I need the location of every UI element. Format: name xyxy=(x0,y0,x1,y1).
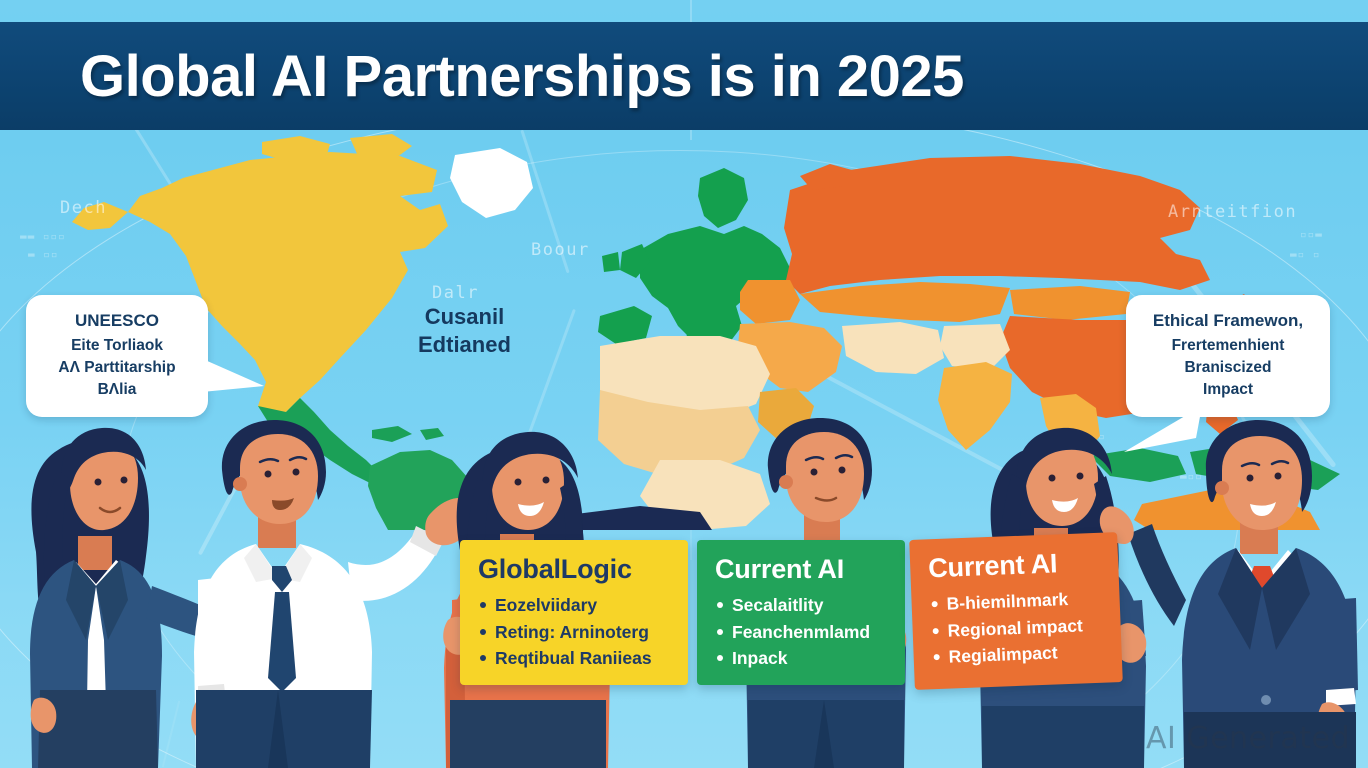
title-banner: Global AI Partnerships is in 2025 xyxy=(0,22,1368,130)
page-title: Global AI Partnerships is in 2025 xyxy=(80,43,964,110)
map-region-tibet xyxy=(940,324,1010,370)
ocean-label-line-2: Edtianed xyxy=(418,331,511,359)
ai-generated-watermark: AI Generated xyxy=(1146,721,1350,756)
placard-green-bullet-2: Feanchenmlamd xyxy=(715,619,889,646)
ocean-label-line-1: Cusanil xyxy=(418,303,511,331)
map-region-madagascar xyxy=(800,478,826,522)
placard-green-title: Current AI xyxy=(715,554,889,585)
map-bg-word: Dalr xyxy=(432,283,479,303)
placard-yellow-title: GlobalLogic xyxy=(478,554,672,585)
placard-green-bullet-3: Inpack xyxy=(715,645,889,672)
placard-current-ai-green[interactable]: Current AI Secalaitlity Feanchenmlamd In… xyxy=(697,540,905,685)
map-region-scandinavia xyxy=(698,168,748,228)
placard-current-ai-orange[interactable]: Current AI B-hiemilnmark Regional impact… xyxy=(909,532,1123,690)
map-region-caribbean xyxy=(372,426,412,442)
map-region-iran xyxy=(842,322,944,374)
map-region-new-guinea xyxy=(1258,460,1340,490)
map-bg-word: Arnteitfion xyxy=(1168,202,1297,222)
speech-bubble-right: Ethical Framewon, Frertemenhient Branisc… xyxy=(1126,295,1330,417)
placard-globallogic[interactable]: GlobalLogic Eozelviidary Reting: Arninot… xyxy=(460,540,688,685)
placard-yellow-bullet-2: Reting: Arninoterg xyxy=(478,619,672,646)
map-region-caribbean xyxy=(420,428,444,440)
map-region-iberia xyxy=(598,306,652,344)
map-region-australia xyxy=(1134,490,1320,530)
bubble-right-line-2: Braniscized xyxy=(1184,359,1271,376)
map-region-south-america xyxy=(368,450,476,530)
bubble-right-heading: Ethical Framewon, xyxy=(1142,309,1314,333)
map-region-central-asia xyxy=(800,282,1010,322)
bubble-right-line-3: Impact xyxy=(1203,381,1253,398)
placard-green-bullets: Secalaitlity Feanchenmlamd Inpack xyxy=(715,592,889,672)
map-region-africa-horn xyxy=(758,388,814,440)
map-region-greenland xyxy=(450,148,533,218)
bubble-left-line-1: Eite Torliaok xyxy=(71,337,163,354)
speech-bubble-left-tail xyxy=(196,352,266,418)
map-region-eastern-europe xyxy=(740,280,800,324)
bubble-right-line-1: Frertemenhient xyxy=(1172,337,1285,354)
map-region-ireland xyxy=(602,252,620,272)
placard-green-bullet-1: Secalaitlity xyxy=(715,592,889,619)
map-region-arctic-islands xyxy=(350,134,412,158)
placard-yellow-bullet-3: Reqtibual Raniieas xyxy=(478,645,672,672)
map-bg-word: Dech xyxy=(60,198,107,218)
map-region-india xyxy=(938,362,1012,450)
placard-orange-bullet-3: Regialimpact xyxy=(931,638,1106,671)
placard-orange-title: Current AI xyxy=(928,547,1103,585)
speech-bubble-left: UNEESCO Eite Torliaok AΛ Parttitarship B… xyxy=(26,295,208,417)
ocean-label: Cusanil Edtianed xyxy=(418,303,511,358)
bubble-left-heading: UNEESCO xyxy=(42,309,192,333)
placard-orange-bullets: B-hiemilnmark Regional impact Regialimpa… xyxy=(929,585,1106,671)
map-bg-word: Boour xyxy=(531,240,590,260)
map-region-mongolia xyxy=(1010,286,1130,320)
placard-yellow-bullets: Eozelviidary Reting: Arninoterg Reqtibua… xyxy=(478,592,672,672)
speech-bubble-right-tail xyxy=(1122,404,1202,464)
map-region-central-america xyxy=(258,398,380,484)
infographic-poster: ▬▬ ▫▫▫ ▬ ▫▫ ▫▫▬ ▬▫ ▫ ▫ ▬ ▫▫ ▫▫▬▫ ▬▫▫ xyxy=(0,0,1368,768)
placard-yellow-bullet-1: Eozelviidary xyxy=(478,592,672,619)
bubble-left-line-2: AΛ Parttitarship xyxy=(58,359,175,376)
bubble-left-line-3: BΛlia xyxy=(98,381,137,398)
